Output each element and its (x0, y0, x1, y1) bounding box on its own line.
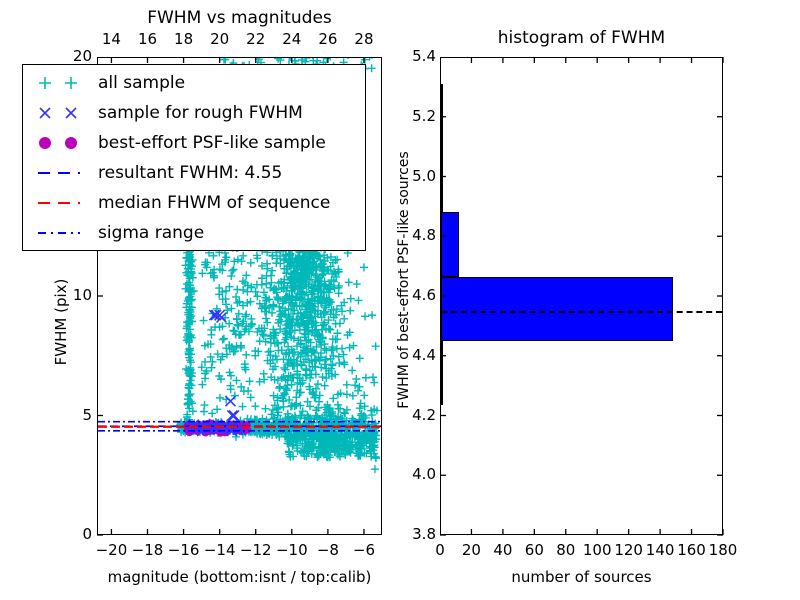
right-x-tick-9: 180 (703, 541, 743, 559)
legend-dot-icon (30, 130, 92, 156)
left-top-tick-2: 18 (166, 30, 202, 48)
left-panel-title: FWHM vs magnitudes (97, 8, 382, 28)
legend-item-label: all sample (98, 73, 185, 93)
left-top-tick-0: 14 (93, 30, 129, 48)
legend-item[interactable]: best-effort PSF-like sample (30, 130, 326, 156)
legend-item[interactable]: resultant FWHM: 4.55 (30, 160, 282, 186)
left-top-tick-6: 26 (310, 30, 346, 48)
legend-item[interactable]: all sample (30, 70, 185, 96)
right-ylabel: FWHM of best-effort PSF-like sources (396, 40, 412, 520)
left-y-tick-3: 20 (58, 47, 92, 65)
left-y-tick-1: 5 (58, 406, 92, 424)
left-top-tick-5: 24 (274, 30, 310, 48)
legend-item-label: sample for rough FWHM (98, 103, 303, 123)
left-y-tick-0: 0 (58, 525, 92, 543)
legend-cross-icon (30, 100, 92, 126)
left-ylabel: FWHM (pix) (52, 252, 70, 392)
left-top-tick-1: 16 (130, 30, 166, 48)
left-top-tick-4: 22 (238, 30, 274, 48)
legend-item-label: resultant FWHM: 4.55 (98, 163, 282, 183)
legend-item-label: sigma range (98, 223, 204, 243)
legend-item[interactable]: median FHWM of sequence (30, 190, 330, 216)
left-top-tick-3: 20 (202, 30, 238, 48)
legend-item[interactable]: sigma range (30, 220, 204, 246)
left-bottom-tick-7: −6 (342, 541, 386, 559)
legend-dashed-line-icon (30, 190, 92, 216)
right-axis-ticks (440, 57, 724, 536)
right-xlabel: number of sources (440, 568, 723, 586)
right-panel-title: histogram of FWHM (440, 28, 723, 48)
figure-canvas: FWHM vs magnitudes 1416182022242628 0510… (0, 0, 800, 600)
legend-dashed-line-icon (30, 160, 92, 186)
legend-dashdot-line-icon (30, 220, 92, 246)
left-top-tick-7: 28 (346, 30, 382, 48)
legend-item[interactable]: sample for rough FWHM (30, 100, 303, 126)
legend-item-label: best-effort PSF-like sample (98, 133, 326, 153)
legend-plus-icon (30, 70, 92, 96)
legend: all samplesample for rough FWHMbest-effo… (22, 64, 366, 251)
legend-item-label: median FHWM of sequence (98, 193, 330, 213)
left-xlabel: magnitude (bottom:isnt / top:calib) (97, 568, 382, 586)
